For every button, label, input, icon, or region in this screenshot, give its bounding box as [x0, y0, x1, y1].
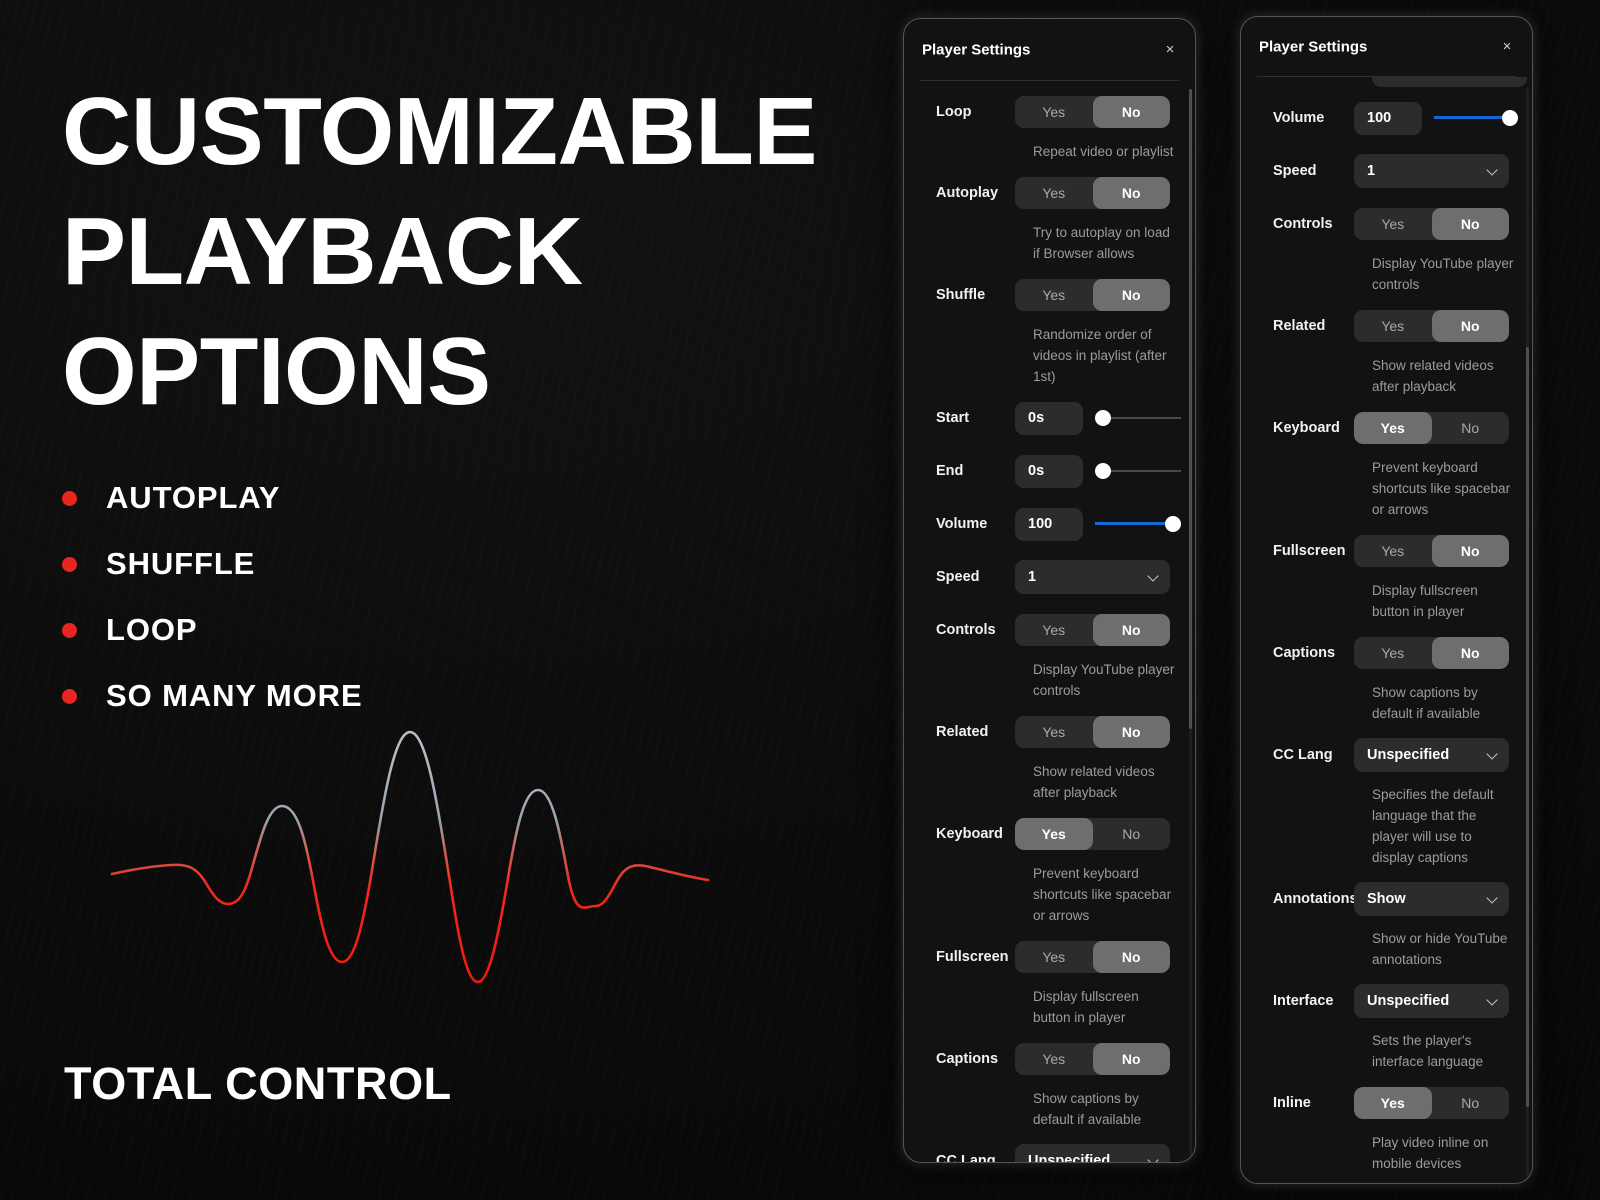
setting-label: Shuffle	[918, 287, 1015, 303]
toggle-option-yes[interactable]: Yes	[1015, 1043, 1093, 1075]
setting-row-inline: InlineYesNo	[1255, 1081, 1518, 1125]
select-cc-lang[interactable]: Unspecified	[1015, 1144, 1170, 1162]
toggle-option-no[interactable]: No	[1093, 818, 1171, 850]
slider-thumb[interactable]	[1502, 110, 1518, 126]
setting-label: Keyboard	[1255, 420, 1354, 436]
toggle-option-yes[interactable]: Yes	[1354, 310, 1432, 342]
headline-line-3: OPTIONS	[62, 312, 862, 432]
setting-label: Interface	[1255, 993, 1354, 1009]
setting-label: Captions	[918, 1051, 1015, 1067]
setting-control: Unspecified	[1354, 738, 1518, 772]
close-icon[interactable]: ×	[1161, 41, 1179, 59]
setting-control: 100	[1015, 508, 1181, 541]
setting-row-annotations: AnnotationsShow	[1255, 877, 1518, 921]
setting-control: YesNo	[1354, 412, 1518, 444]
setting-help-text: Display fullscreen button in player	[1033, 986, 1181, 1028]
dialog-title: Player Settings	[1259, 38, 1367, 55]
toggle-option-no[interactable]: No	[1432, 535, 1510, 567]
player-settings-dialog-left: Player Settings × LoopYesNoRepeat video …	[903, 18, 1196, 1163]
list-item: LOOP	[62, 597, 363, 663]
slider-volume[interactable]	[1095, 508, 1181, 540]
setting-row-volume: Volume100	[918, 502, 1181, 546]
dialog-title: Player Settings	[922, 41, 1030, 58]
setting-control: YesNo	[1015, 96, 1181, 128]
setting-help-text: Display YouTube player controls	[1372, 253, 1518, 295]
setting-row-fullscreen: FullscreenYesNo	[918, 935, 1181, 979]
setting-label: Captions	[1255, 645, 1354, 661]
toggle-option-no[interactable]: No	[1432, 637, 1510, 669]
setting-control: YesNo	[1015, 716, 1181, 748]
headline-line-2: PLAYBACK	[62, 192, 862, 312]
bullet-dot-icon	[62, 491, 77, 506]
setting-row-keyboard: KeyboardYesNo	[1255, 406, 1518, 450]
toggle-option-yes[interactable]: Yes	[1354, 535, 1432, 567]
setting-label: Volume	[1255, 110, 1354, 126]
toggle-option-no[interactable]: No	[1432, 1087, 1510, 1119]
select-value: Show	[1367, 891, 1406, 907]
setting-label: CC Lang	[918, 1153, 1015, 1162]
setting-control: YesNo	[1354, 1087, 1518, 1119]
toggle-option-yes[interactable]: Yes	[1354, 412, 1432, 444]
setting-row-fullscreen: FullscreenYesNo	[1255, 529, 1518, 573]
setting-help-text: Prevent keyboard shortcuts like spacebar…	[1033, 863, 1181, 926]
setting-row-related: RelatedYesNo	[1255, 304, 1518, 348]
setting-help-text: Play video inline on mobile devices	[1372, 1132, 1518, 1174]
chevron-down-icon	[1149, 572, 1159, 582]
setting-control: YesNo	[1354, 637, 1518, 669]
waveform-graphic	[110, 690, 810, 1050]
setting-row-shuffle: ShuffleYesNo	[918, 273, 1181, 317]
setting-help-text: Prevent keyboard shortcuts like spacebar…	[1372, 457, 1518, 520]
setting-label: Fullscreen	[918, 949, 1015, 965]
slider-volume[interactable]	[1434, 102, 1518, 134]
setting-label: Speed	[1255, 163, 1354, 179]
toggle-autoplay[interactable]: YesNo	[1015, 177, 1170, 209]
setting-row-related: RelatedYesNo	[918, 710, 1181, 754]
chevron-down-icon	[1488, 750, 1498, 760]
toggle-option-yes[interactable]: Yes	[1015, 279, 1093, 311]
setting-control: YesNo	[1015, 614, 1181, 646]
select-value: 1	[1028, 569, 1036, 585]
list-item: AUTOPLAY	[62, 465, 363, 531]
setting-help-text: Display YouTube player controls	[1033, 659, 1181, 701]
setting-control: 0s	[1015, 455, 1181, 488]
setting-label: Volume	[918, 516, 1015, 532]
setting-label: Related	[918, 724, 1015, 740]
setting-label: Speed	[918, 569, 1015, 585]
toggle-option-no[interactable]: No	[1432, 310, 1510, 342]
setting-row-speed: Speed1	[918, 555, 1181, 599]
setting-help-text: Show related videos after playback	[1033, 761, 1181, 803]
setting-control: YesNo	[1015, 941, 1181, 973]
setting-row-speed: Speed1	[1255, 149, 1518, 193]
setting-help-text: Display fullscreen button in player	[1372, 580, 1518, 622]
setting-label: Autoplay	[918, 185, 1015, 201]
setting-label: End	[918, 463, 1015, 479]
toggle-option-no[interactable]: No	[1093, 1043, 1171, 1075]
toggle-loop[interactable]: YesNo	[1015, 96, 1170, 128]
toggle-option-yes[interactable]: Yes	[1354, 208, 1432, 240]
setting-row-start: Start0s	[918, 396, 1181, 440]
toggle-controls[interactable]: YesNo	[1015, 614, 1170, 646]
setting-control: YesNo	[1015, 279, 1181, 311]
setting-row-captions: CaptionsYesNo	[1255, 631, 1518, 675]
setting-control: 1	[1354, 154, 1518, 188]
toggle-shuffle[interactable]: YesNo	[1015, 279, 1170, 311]
slider-thumb[interactable]	[1095, 410, 1111, 426]
bullet-dot-icon	[62, 689, 77, 704]
setting-label: CC Lang	[1255, 747, 1354, 763]
hero-pane: CUSTOMIZABLE PLAYBACK OPTIONS AUTOPLAY S…	[0, 0, 900, 1200]
setting-control: Unspecified	[1015, 1144, 1181, 1162]
setting-row-autoplay: AutoplayYesNo	[918, 171, 1181, 215]
chevron-down-icon	[1149, 1156, 1159, 1162]
setting-help-text: Show captions by default if available	[1372, 682, 1518, 724]
chevron-down-icon	[1488, 166, 1498, 176]
waveform-svg	[110, 690, 810, 1050]
toggle-keyboard[interactable]: YesNo	[1354, 412, 1509, 444]
setting-control: YesNo	[1354, 310, 1518, 342]
dialog-header: Player Settings ×	[904, 19, 1195, 80]
toggle-fullscreen[interactable]: YesNo	[1354, 535, 1509, 567]
setting-help-text: Show or hide YouTube annotations	[1372, 928, 1518, 970]
toggle-option-no[interactable]: No	[1093, 941, 1171, 973]
setting-help-text: Try to autoplay on load if Browser allow…	[1033, 222, 1181, 264]
footer-tagline: TOTAL CONTROL	[64, 1058, 452, 1110]
setting-control: YesNo	[1354, 208, 1518, 240]
setting-row-keyboard: KeyboardYesNo	[918, 812, 1181, 856]
setting-help-text: Show related videos after playback	[1372, 355, 1518, 397]
toggle-controls[interactable]: YesNo	[1354, 208, 1509, 240]
toggle-option-no[interactable]: No	[1093, 279, 1171, 311]
toggle-option-yes[interactable]: Yes	[1015, 96, 1093, 128]
toggle-option-yes[interactable]: Yes	[1015, 818, 1093, 850]
toggle-related[interactable]: YesNo	[1015, 716, 1170, 748]
slider-thumb[interactable]	[1165, 516, 1181, 532]
input-end[interactable]: 0s	[1015, 455, 1083, 488]
setting-control: YesNo	[1015, 1043, 1181, 1075]
toggle-option-no[interactable]: No	[1093, 716, 1171, 748]
setting-label: Keyboard	[918, 826, 1015, 842]
select-value: 1	[1367, 163, 1375, 179]
bullet-label: AUTOPLAY	[106, 480, 280, 516]
partially-scrolled-control[interactable]	[1372, 77, 1527, 87]
chevron-down-icon	[1488, 996, 1498, 1006]
toggle-option-yes[interactable]: Yes	[1015, 614, 1093, 646]
setting-control: YesNo	[1015, 818, 1181, 850]
setting-control: 100	[1354, 102, 1518, 135]
setting-control: Show	[1354, 882, 1518, 916]
settings-list[interactable]: LoopYesNoRepeat video or playlistAutopla…	[904, 81, 1195, 1162]
setting-help-text: Show captions by default if available	[1033, 1088, 1181, 1130]
bullet-label: SHUFFLE	[106, 546, 255, 582]
scrollbar-thumb[interactable]	[1189, 89, 1192, 729]
setting-row-volume: Volume100	[1255, 96, 1518, 140]
setting-help-text: Specifies the default language that the …	[1372, 784, 1518, 868]
select-cc-lang[interactable]: Unspecified	[1354, 738, 1509, 772]
setting-label: Related	[1255, 318, 1354, 334]
toggle-option-no[interactable]: No	[1432, 412, 1510, 444]
scrollbar-thumb[interactable]	[1526, 347, 1529, 1107]
player-settings-dialog-right: Player Settings × Volume100Speed1Control…	[1240, 16, 1533, 1184]
select-value: Unspecified	[1367, 747, 1449, 763]
waveform-path	[112, 732, 708, 982]
setting-label: Controls	[918, 622, 1015, 638]
input-start[interactable]: 0s	[1015, 402, 1083, 435]
setting-row-cc-lang: CC LangUnspecified	[1255, 733, 1518, 777]
toggle-captions[interactable]: YesNo	[1354, 637, 1509, 669]
input-volume[interactable]: 100	[1354, 102, 1422, 135]
toggle-keyboard[interactable]: YesNo	[1015, 818, 1170, 850]
toggle-option-yes[interactable]: Yes	[1354, 637, 1432, 669]
dialog-header: Player Settings ×	[1241, 17, 1532, 76]
setting-help-text: Repeat video or playlist	[1033, 141, 1181, 162]
setting-row-loop: LoopYesNo	[918, 90, 1181, 134]
slider-end[interactable]	[1095, 455, 1181, 487]
select-interface[interactable]: Unspecified	[1354, 984, 1509, 1018]
setting-label: Start	[918, 410, 1015, 426]
select-speed[interactable]: 1	[1354, 154, 1509, 188]
page-title: CUSTOMIZABLE PLAYBACK OPTIONS	[62, 72, 862, 432]
toggle-option-yes[interactable]: Yes	[1015, 716, 1093, 748]
select-annotations[interactable]: Show	[1354, 882, 1509, 916]
list-item: SHUFFLE	[62, 531, 363, 597]
toggle-option-no[interactable]: No	[1093, 177, 1171, 209]
bullet-dot-icon	[62, 623, 77, 638]
bullet-dot-icon	[62, 557, 77, 572]
bullet-label: LOOP	[106, 612, 197, 648]
close-icon[interactable]: ×	[1498, 38, 1516, 56]
select-value: Unspecified	[1028, 1153, 1110, 1162]
setting-label: Controls	[1255, 216, 1354, 232]
setting-control: YesNo	[1015, 177, 1181, 209]
setting-label: Inline	[1255, 1095, 1354, 1111]
toggle-option-no[interactable]: No	[1093, 96, 1171, 128]
toggle-option-yes[interactable]: Yes	[1015, 177, 1093, 209]
settings-list[interactable]: Volume100Speed1ControlsYesNoDisplay YouT…	[1241, 77, 1532, 1183]
setting-row-controls: ControlsYesNo	[918, 608, 1181, 652]
toggle-captions[interactable]: YesNo	[1015, 1043, 1170, 1075]
setting-row-cc-lang: CC LangUnspecified	[918, 1139, 1181, 1162]
setting-control: 0s	[1015, 402, 1181, 435]
select-value: Unspecified	[1367, 993, 1449, 1009]
toggle-fullscreen[interactable]: YesNo	[1015, 941, 1170, 973]
setting-control: YesNo	[1354, 535, 1518, 567]
setting-row-controls: ControlsYesNo	[1255, 202, 1518, 246]
toggle-inline[interactable]: YesNo	[1354, 1087, 1509, 1119]
setting-control: 1	[1015, 560, 1181, 594]
toggle-option-yes[interactable]: Yes	[1015, 941, 1093, 973]
toggle-related[interactable]: YesNo	[1354, 310, 1509, 342]
setting-label: Loop	[918, 104, 1015, 120]
setting-label: Annotations	[1255, 891, 1354, 907]
toggle-option-yes[interactable]: Yes	[1354, 1087, 1432, 1119]
setting-help-text: Sets the player's interface language	[1372, 1030, 1518, 1072]
chevron-down-icon	[1488, 894, 1498, 904]
setting-row-interface: InterfaceUnspecified	[1255, 979, 1518, 1023]
slider-thumb[interactable]	[1095, 463, 1111, 479]
input-volume[interactable]: 100	[1015, 508, 1083, 541]
headline-line-1: CUSTOMIZABLE	[62, 72, 862, 192]
setting-label: Fullscreen	[1255, 543, 1354, 559]
select-speed[interactable]: 1	[1015, 560, 1170, 594]
setting-row-end: End0s	[918, 449, 1181, 493]
setting-control: Unspecified	[1354, 984, 1518, 1018]
setting-help-text: Randomize order of videos in playlist (a…	[1033, 324, 1181, 387]
toggle-option-no[interactable]: No	[1093, 614, 1171, 646]
setting-row-captions: CaptionsYesNo	[918, 1037, 1181, 1081]
slider-start[interactable]	[1095, 402, 1181, 434]
toggle-option-no[interactable]: No	[1432, 208, 1510, 240]
